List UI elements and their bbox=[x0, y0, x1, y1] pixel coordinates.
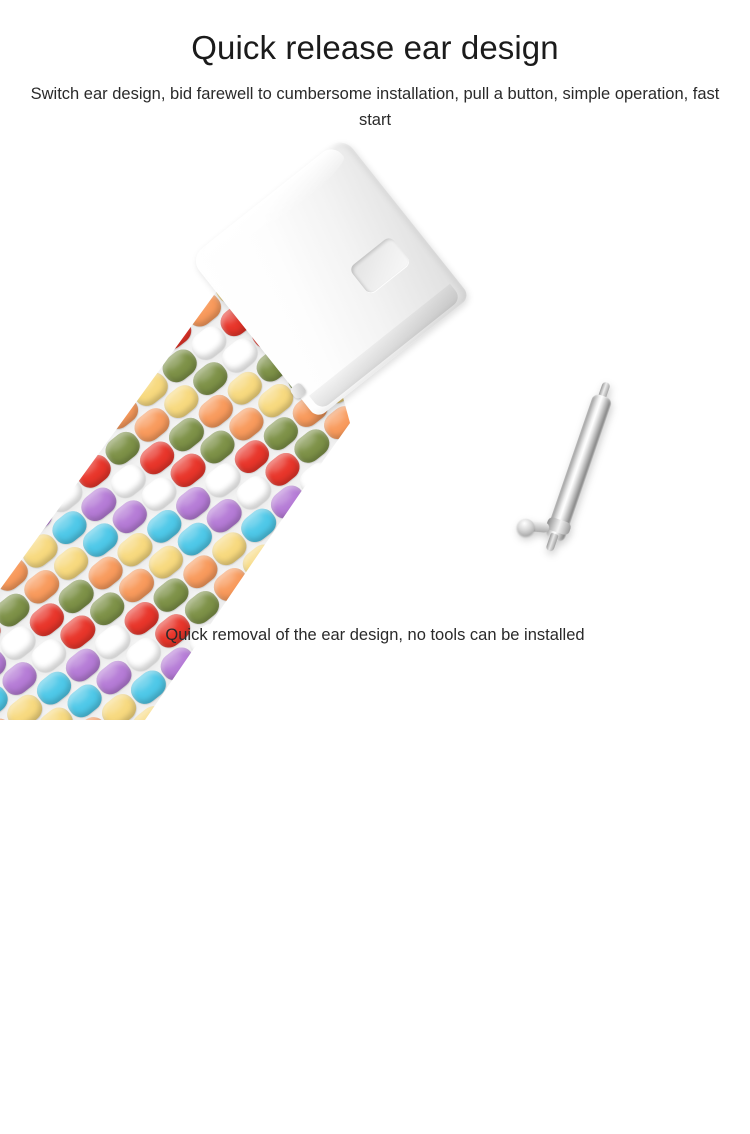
weave-nub bbox=[0, 484, 26, 527]
weave-nub bbox=[278, 0, 323, 32]
weave-nub bbox=[608, 430, 653, 473]
weave-nub bbox=[527, 569, 572, 612]
weave-nub bbox=[192, 688, 237, 731]
weave-nub bbox=[428, 204, 473, 247]
weave-nub bbox=[200, 792, 245, 835]
weave-nub bbox=[329, 801, 374, 844]
weave-nub bbox=[381, 685, 426, 728]
weave-nub bbox=[80, 221, 125, 264]
weave-nub bbox=[117, 895, 162, 938]
weave-nub bbox=[126, 999, 171, 1042]
weave-nub bbox=[465, 285, 510, 328]
weave-nub bbox=[601, 696, 646, 739]
weave-nub bbox=[87, 289, 132, 332]
weave-nub bbox=[630, 672, 675, 715]
weave-nub bbox=[281, 654, 326, 697]
weave-nub bbox=[673, 453, 718, 496]
weave-nub bbox=[118, 0, 163, 11]
weave-nub bbox=[421, 135, 466, 178]
weave-nub bbox=[108, 162, 153, 205]
weave-nub bbox=[99, 725, 144, 768]
weave-nub bbox=[572, 719, 617, 762]
weave-nub bbox=[308, 928, 353, 971]
weave-nub bbox=[639, 443, 684, 486]
weave-nub bbox=[121, 299, 166, 342]
weave-nub bbox=[336, 869, 381, 912]
weave-nub bbox=[0, 278, 6, 321]
weave-nub bbox=[541, 706, 586, 749]
weave-nub bbox=[131, 1032, 176, 1075]
weave-nub bbox=[542, 742, 587, 785]
weave-nub bbox=[213, 0, 258, 10]
weave-nub bbox=[410, 662, 455, 705]
weave-nub bbox=[389, 790, 434, 833]
weave-nub bbox=[536, 340, 581, 383]
spring-bar bbox=[538, 379, 621, 556]
page-title: Quick release ear design bbox=[0, 30, 750, 67]
weave-nub bbox=[680, 521, 725, 564]
weave-nub bbox=[414, 400, 459, 443]
weave-nub bbox=[360, 813, 405, 856]
weave-nub bbox=[0, 186, 28, 229]
weave-nub bbox=[0, 222, 30, 265]
weave-nub bbox=[78, 185, 123, 228]
weave-nub bbox=[207, 861, 252, 904]
weave-nub bbox=[338, 905, 383, 948]
weave-nub bbox=[333, 538, 378, 581]
weave-nub bbox=[51, 244, 96, 287]
weave-nub bbox=[524, 238, 569, 281]
weave-nub bbox=[133, 734, 178, 777]
weave-nub bbox=[694, 659, 739, 702]
weave-nub bbox=[388, 754, 433, 797]
weave-nub bbox=[512, 730, 557, 773]
weave-nub bbox=[419, 433, 464, 476]
weave-nub bbox=[38, 735, 83, 778]
weave-nub bbox=[471, 318, 516, 361]
weave-nub bbox=[342, 0, 387, 19]
weave-nub bbox=[0, 520, 28, 563]
weave-nub bbox=[739, 475, 750, 518]
weave-nub bbox=[501, 330, 546, 373]
weave-nub bbox=[587, 558, 632, 601]
weave-nub bbox=[667, 384, 712, 427]
weave-nub bbox=[477, 720, 522, 763]
weave-nub bbox=[367, 548, 412, 591]
weave-nub bbox=[460, 845, 505, 888]
weave-nub bbox=[16, 827, 61, 870]
weave-nub bbox=[273, 549, 318, 592]
weave-nub bbox=[116, 266, 161, 309]
weave-nub bbox=[508, 399, 553, 442]
weave-nub bbox=[577, 752, 622, 795]
weave-nub bbox=[124, 964, 169, 1007]
weave-nub bbox=[9, 759, 54, 802]
weave-nub bbox=[391, 492, 436, 535]
weave-nub bbox=[23, 896, 68, 939]
weave-nub bbox=[250, 641, 295, 684]
weave-nub bbox=[463, 583, 508, 626]
weave-nub bbox=[222, 700, 267, 743]
weave-nub bbox=[489, 822, 534, 865]
weave-nub bbox=[369, 584, 414, 627]
weave-nub bbox=[133, 1068, 178, 1111]
weave-nub bbox=[365, 846, 410, 889]
weave-nub bbox=[271, 847, 316, 890]
weave-nub bbox=[212, 894, 257, 937]
weave-nub bbox=[395, 823, 440, 866]
weave-nub bbox=[109, 197, 154, 240]
weave-nub bbox=[27, 300, 72, 343]
weave-nub bbox=[288, 722, 333, 765]
weave-nub bbox=[353, 744, 398, 787]
weave-nub bbox=[606, 728, 651, 771]
weave-nub bbox=[362, 515, 407, 558]
weave-nub bbox=[396, 525, 441, 568]
weave-nub bbox=[0, 117, 21, 160]
weave-nub bbox=[190, 986, 235, 1029]
weave-nub bbox=[236, 838, 281, 881]
weave-nub bbox=[420, 469, 465, 512]
weave-nub bbox=[424, 799, 469, 842]
weave-nub bbox=[0, 290, 37, 333]
weave-nub bbox=[28, 336, 73, 379]
weave-nub bbox=[73, 152, 118, 195]
weave-nub bbox=[0, 347, 13, 390]
weave-nub bbox=[4, 726, 49, 769]
weave-nub bbox=[160, 1009, 205, 1052]
weave-nub bbox=[178, 884, 223, 927]
weave-nub bbox=[90, 954, 135, 997]
weave-nub bbox=[42, 139, 87, 182]
weave-nub bbox=[446, 707, 491, 750]
weave-nub bbox=[221, 998, 266, 1041]
weave-nub bbox=[326, 470, 371, 513]
weave-nub bbox=[307, 0, 352, 9]
weave-nub bbox=[112, 862, 157, 905]
weave-nub bbox=[40, 437, 85, 480]
weave-nub bbox=[231, 137, 276, 180]
weave-nub bbox=[0, 415, 19, 458]
weave-nub bbox=[470, 651, 515, 694]
weave-nub bbox=[372, 915, 417, 958]
weave-nub bbox=[252, 677, 297, 720]
weave-nub bbox=[711, 534, 750, 577]
weave-nub bbox=[221, 664, 266, 707]
weave-nub bbox=[286, 687, 331, 730]
weave-nub bbox=[529, 271, 574, 314]
weave-nub bbox=[412, 364, 457, 407]
weave-nub bbox=[279, 952, 324, 995]
weave-nub bbox=[500, 294, 545, 337]
weave-nub bbox=[57, 313, 102, 356]
weave-nub bbox=[367, 882, 412, 925]
weave-nub bbox=[259, 746, 304, 789]
weave-nub bbox=[18, 863, 63, 906]
weave-nub bbox=[11, 461, 56, 504]
weave-nub bbox=[111, 826, 156, 869]
weave-nub bbox=[353, 411, 398, 454]
weave-nub bbox=[168, 151, 213, 194]
weave-nub bbox=[295, 791, 340, 834]
weave-nub bbox=[401, 891, 446, 934]
weave-nub bbox=[173, 184, 218, 227]
weave-nub bbox=[63, 345, 108, 388]
weave-nub bbox=[558, 581, 603, 624]
weave-nub bbox=[346, 676, 391, 719]
weave-nub bbox=[0, 451, 21, 494]
weave-nub bbox=[183, 917, 228, 960]
weave-nub bbox=[198, 756, 243, 799]
weave-nub bbox=[293, 755, 338, 798]
weave-nub bbox=[668, 420, 713, 463]
weave-nub bbox=[85, 254, 130, 297]
weave-nub bbox=[457, 514, 502, 557]
weave-nub bbox=[506, 697, 551, 740]
weave-nub bbox=[302, 860, 347, 903]
weave-nub bbox=[140, 803, 185, 846]
weave-nub bbox=[653, 580, 698, 623]
weave-nub bbox=[64, 381, 109, 424]
weave-nub bbox=[314, 961, 359, 1004]
weave-nub bbox=[24, 932, 69, 975]
weave-nub bbox=[0, 782, 24, 825]
weave-nub bbox=[450, 445, 495, 488]
weave-nub bbox=[398, 561, 443, 604]
weave-nub bbox=[248, 939, 293, 982]
weave-nub bbox=[49, 208, 94, 251]
weave-nub bbox=[439, 639, 484, 682]
weave-nub bbox=[443, 377, 488, 420]
weave-nub bbox=[169, 780, 214, 823]
weave-nub bbox=[431, 868, 476, 911]
weave-nub bbox=[610, 466, 655, 509]
weave-nub bbox=[338, 571, 383, 614]
weave-nub bbox=[155, 976, 200, 1019]
weave-nub bbox=[0, 323, 42, 366]
bottom-caption: Quick removal of the ear design, no tool… bbox=[0, 626, 750, 645]
weave-nub bbox=[464, 249, 509, 292]
weave-nub bbox=[383, 387, 428, 430]
weave-nub bbox=[513, 765, 558, 808]
weave-nub bbox=[193, 723, 238, 766]
weave-nub bbox=[0, 245, 1, 288]
weave-nub bbox=[536, 673, 581, 716]
weave-nub bbox=[171, 815, 216, 858]
weave-nub bbox=[345, 640, 390, 683]
weave-nub bbox=[302, 526, 347, 569]
weave-nub bbox=[343, 938, 388, 981]
weave-nub bbox=[0, 818, 26, 861]
weave-nub bbox=[586, 522, 631, 565]
weave-nub bbox=[102, 129, 147, 172]
weave-nub bbox=[455, 812, 500, 855]
weave-nub bbox=[484, 789, 529, 832]
weave-nub bbox=[164, 747, 209, 790]
weave-nub bbox=[197, 128, 242, 171]
weave-nub bbox=[740, 510, 750, 553]
weave-nub bbox=[307, 893, 352, 936]
weave-nub bbox=[94, 358, 139, 401]
weave-nub bbox=[0, 851, 31, 894]
weave-nub bbox=[453, 776, 498, 819]
weave-nub bbox=[324, 768, 369, 811]
weave-nub bbox=[13, 163, 58, 206]
weave-nub bbox=[119, 931, 164, 974]
weave-nub bbox=[518, 798, 563, 841]
weave-nub bbox=[247, 0, 292, 20]
weave-nub bbox=[531, 307, 576, 350]
weave-nub bbox=[522, 202, 567, 245]
weave-nub bbox=[104, 758, 149, 801]
weave-nub bbox=[746, 543, 750, 586]
weave-nub bbox=[274, 585, 319, 628]
weave-nub bbox=[272, 883, 317, 926]
weave-nub bbox=[659, 649, 704, 692]
weave-nub bbox=[300, 824, 345, 867]
weave-nub bbox=[184, 953, 229, 996]
weave-nub bbox=[205, 825, 250, 868]
weave-nub bbox=[390, 456, 435, 499]
weave-nub bbox=[97, 1023, 142, 1066]
weave-nub bbox=[154, 940, 199, 983]
weave-nub bbox=[441, 341, 486, 384]
weave-nub bbox=[513, 432, 558, 475]
weave-nub bbox=[75, 781, 120, 824]
weave-nub bbox=[425, 835, 470, 878]
weave-nub bbox=[427, 537, 472, 580]
weave-nub bbox=[0, 359, 43, 402]
weave-nub bbox=[303, 562, 348, 605]
spring-bar-release-knob bbox=[515, 517, 537, 539]
weave-nub bbox=[202, 160, 247, 203]
weave-nub bbox=[495, 261, 540, 304]
weave-nub bbox=[391, 158, 436, 201]
weave-nub bbox=[148, 907, 193, 950]
weave-nub bbox=[147, 872, 192, 915]
weave-nub bbox=[482, 753, 527, 796]
weave-nub bbox=[635, 705, 680, 748]
weave-nub bbox=[457, 180, 502, 223]
weave-nub bbox=[226, 1031, 271, 1074]
weave-nub bbox=[665, 682, 710, 725]
weave-nub bbox=[644, 476, 689, 519]
weave-nub bbox=[599, 660, 644, 703]
weave-nub bbox=[162, 1045, 207, 1088]
weave-nub bbox=[228, 733, 273, 776]
weave-nub bbox=[315, 663, 360, 706]
weave-nub bbox=[235, 802, 280, 845]
weave-nub bbox=[144, 207, 189, 250]
weave-nub bbox=[58, 0, 103, 22]
weave-nub bbox=[47, 840, 92, 883]
weave-nub bbox=[214, 929, 259, 972]
weave-nub bbox=[105, 793, 150, 836]
weave-nub bbox=[548, 775, 593, 818]
weave-nub bbox=[703, 429, 748, 472]
weave-nub bbox=[716, 567, 750, 610]
weave-nub bbox=[0, 153, 23, 196]
weave-nub bbox=[331, 503, 376, 546]
weave-nub bbox=[331, 836, 376, 879]
band-weave-texture bbox=[0, 0, 750, 1062]
weave-nub bbox=[151, 276, 196, 319]
weave-nub bbox=[570, 683, 615, 726]
weave-nub bbox=[197, 1054, 242, 1097]
weave-nub bbox=[33, 369, 78, 412]
weave-nub bbox=[622, 568, 667, 611]
weave-nub bbox=[0, 314, 7, 357]
weave-nub bbox=[11, 794, 56, 837]
weave-nub bbox=[565, 650, 610, 693]
weave-nub bbox=[81, 849, 126, 892]
weave-nub bbox=[615, 499, 660, 542]
weave-nub bbox=[475, 684, 520, 727]
weave-nub bbox=[505, 661, 550, 704]
weave-nub bbox=[297, 493, 342, 536]
page-subtitle: Switch ear design, bid farewell to cumbe… bbox=[28, 82, 722, 133]
weave-nub bbox=[458, 216, 503, 259]
weave-nub bbox=[0, 255, 35, 298]
weave-nub bbox=[358, 777, 403, 820]
weave-nub bbox=[6, 428, 51, 471]
weave-nub bbox=[56, 277, 101, 320]
weave-nub bbox=[682, 557, 727, 600]
weave-nub bbox=[186, 655, 231, 698]
weave-nub bbox=[417, 731, 462, 774]
weave-nub bbox=[448, 410, 493, 453]
weave-nub bbox=[493, 226, 538, 269]
weave-nub bbox=[40, 771, 85, 814]
weave-nub bbox=[114, 230, 159, 273]
weave-nub bbox=[15, 199, 60, 242]
weave-nub bbox=[76, 817, 121, 860]
weave-nub bbox=[0, 886, 33, 929]
weave-nub bbox=[560, 284, 605, 327]
weave-nub bbox=[376, 652, 421, 695]
weave-nub bbox=[704, 465, 749, 508]
weave-nub bbox=[488, 193, 533, 236]
weave-nub bbox=[284, 984, 329, 1027]
weave-nub bbox=[441, 675, 486, 718]
weave-nub bbox=[92, 322, 137, 365]
weave-nub bbox=[250, 975, 295, 1018]
weave-nub bbox=[632, 374, 677, 417]
weave-nub bbox=[265, 814, 310, 857]
weave-nub bbox=[61, 977, 106, 1020]
weave-nub bbox=[617, 535, 662, 578]
weave-nub bbox=[565, 316, 610, 359]
weave-nub bbox=[176, 848, 221, 891]
weave-nub bbox=[255, 1008, 300, 1051]
weave-nub bbox=[8, 130, 53, 173]
weave-nub bbox=[152, 0, 197, 21]
weave-nub bbox=[83, 885, 128, 928]
weave-nub bbox=[243, 906, 288, 949]
weave-nub bbox=[52, 873, 97, 916]
weave-nub bbox=[317, 699, 362, 742]
weave-nub bbox=[277, 916, 322, 959]
weave-nub bbox=[44, 175, 89, 218]
weave-nub bbox=[69, 748, 114, 791]
weave-nub bbox=[20, 231, 65, 274]
weave-nub bbox=[35, 405, 80, 448]
weave-nub bbox=[493, 559, 538, 602]
weave-nub bbox=[580, 490, 625, 533]
weave-nub bbox=[0, 84, 16, 127]
weave-nub bbox=[472, 353, 517, 396]
weave-nub bbox=[167, 1078, 212, 1121]
